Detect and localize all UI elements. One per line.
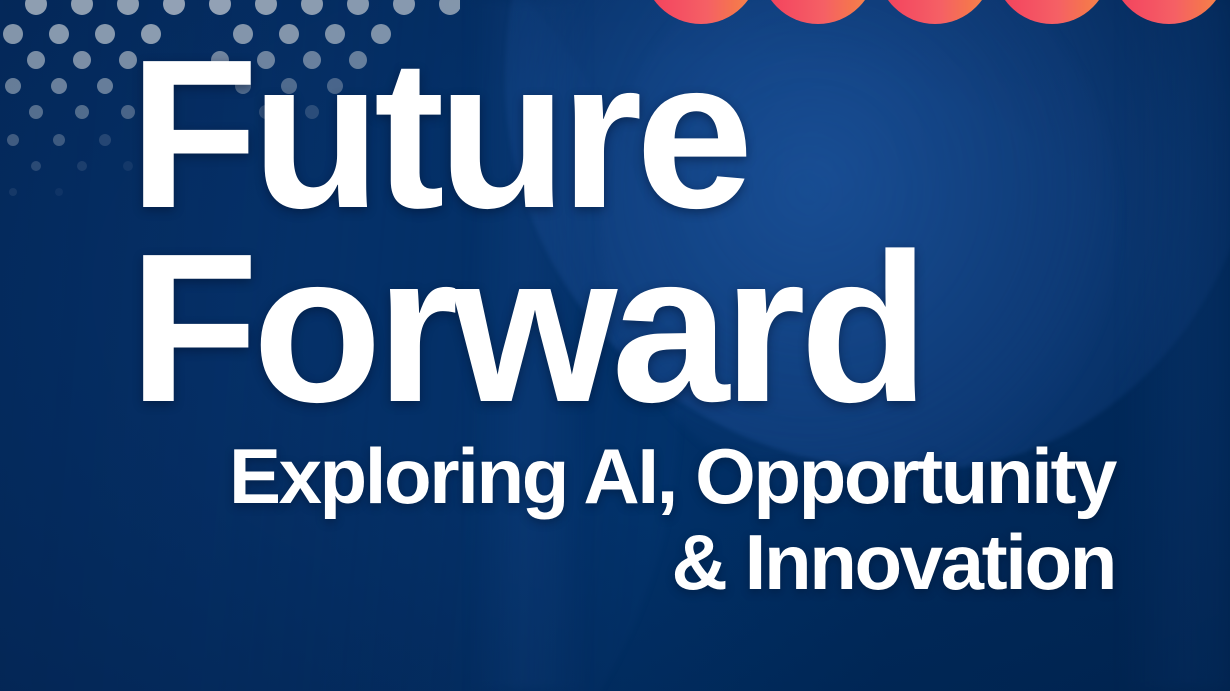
poster-canvas: Future Forward Exploring AI, Opportunity…: [0, 0, 1230, 691]
headline-line-2: Forward: [129, 238, 1139, 418]
subheadline-block: Exploring AI, Opportunity & Innovation: [0, 437, 1115, 602]
subheadline-line-1: Exploring AI, Opportunity: [0, 437, 1115, 517]
headline-line-1: Future: [129, 44, 1139, 224]
poster-content: Future Forward Exploring AI, Opportunity…: [0, 0, 1230, 691]
subheadline-line-2: & Innovation: [0, 523, 1115, 603]
headline-block: Future Forward: [129, 44, 1139, 418]
